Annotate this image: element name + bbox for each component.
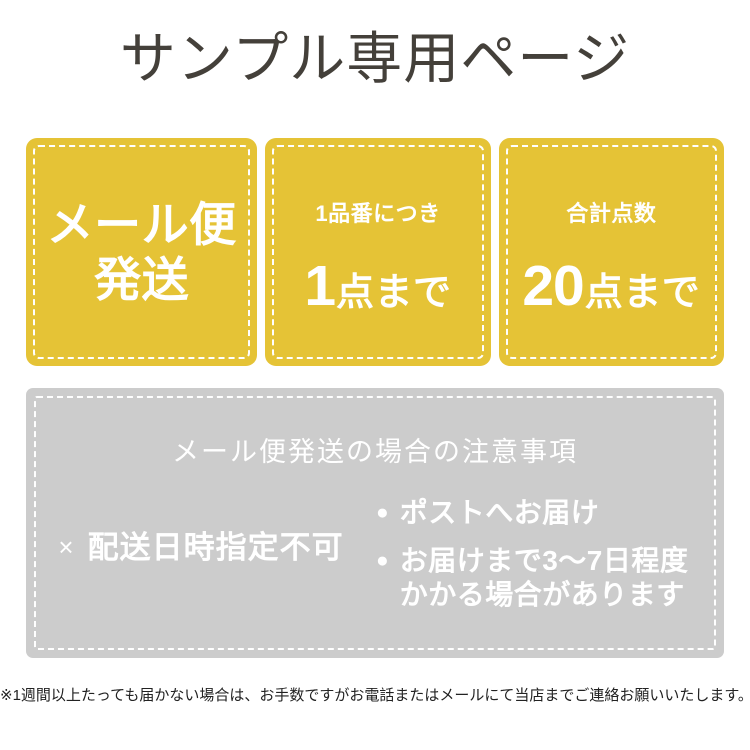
card-shipping-method-line1: メール便	[47, 197, 237, 252]
notice-restriction: × 配送日時指定不可	[26, 492, 376, 563]
bullet-dot-icon: ●	[376, 544, 389, 578]
card-total-quantity-limit-figure: 20 点まで	[522, 258, 700, 315]
cross-mark-icon: ×	[58, 534, 73, 560]
card-total-quantity-limit-number: 20	[522, 258, 583, 315]
card-total-quantity-limit: 合計点数 20 点まで	[499, 138, 724, 366]
notice-bullet-text-line2: かかる場合があります	[400, 578, 689, 612]
footnote: ※1週間以上たっても届かない場合は、お手数ですがお電話またはメールにて当店までご…	[0, 684, 750, 705]
card-shipping-method-line2: 発送	[94, 252, 189, 307]
sample-page-banner: サンプル専用ページ メール便 発送 1品番につき 1 点まで	[0, 0, 750, 750]
notice-restriction-label: 配送日時指定不可	[88, 532, 344, 563]
list-item: ● ポストへお届け	[376, 496, 724, 530]
bullet-dot-icon: ●	[376, 496, 389, 530]
card-shipping-method: メール便 発送	[26, 138, 257, 366]
notice-bullet-text-line1: お届けまで3〜7日程度	[400, 545, 689, 576]
shipping-notice-heading: メール便発送の場合の注意事項	[26, 430, 724, 469]
card-total-quantity-limit-caption: 合計点数	[566, 196, 656, 228]
list-item: ● お届けまで3〜7日程度 かかる場合があります	[376, 544, 724, 612]
shipping-notice-panel: メール便発送の場合の注意事項 × 配送日時指定不可 ● ポストへお届け ● お届…	[26, 388, 724, 658]
shipping-condition-cards: メール便 発送 1品番につき 1 点まで 合計点数 20 点まで	[26, 138, 724, 366]
card-per-item-limit-caption: 1品番につき	[315, 196, 440, 228]
card-total-quantity-limit-unit: 点まで	[585, 274, 701, 312]
card-per-item-limit: 1品番につき 1 点まで	[265, 138, 490, 366]
notice-bullet-text: ポストへお届け	[400, 496, 600, 530]
notice-bullet-text: お届けまで3〜7日程度 かかる場合があります	[400, 544, 689, 612]
card-per-item-limit-number: 1	[304, 258, 335, 315]
notice-bullet-list: ● ポストへお届け ● お届けまで3〜7日程度 かかる場合があります	[376, 492, 724, 626]
card-per-item-limit-unit: 点まで	[336, 274, 452, 312]
shipping-notice-body: × 配送日時指定不可 ● ポストへお届け ● お届けまで3〜7日程度 かかる場合…	[26, 492, 724, 632]
page-title: サンプル専用ページ	[0, 28, 750, 90]
card-per-item-limit-figure: 1 点まで	[304, 258, 451, 315]
